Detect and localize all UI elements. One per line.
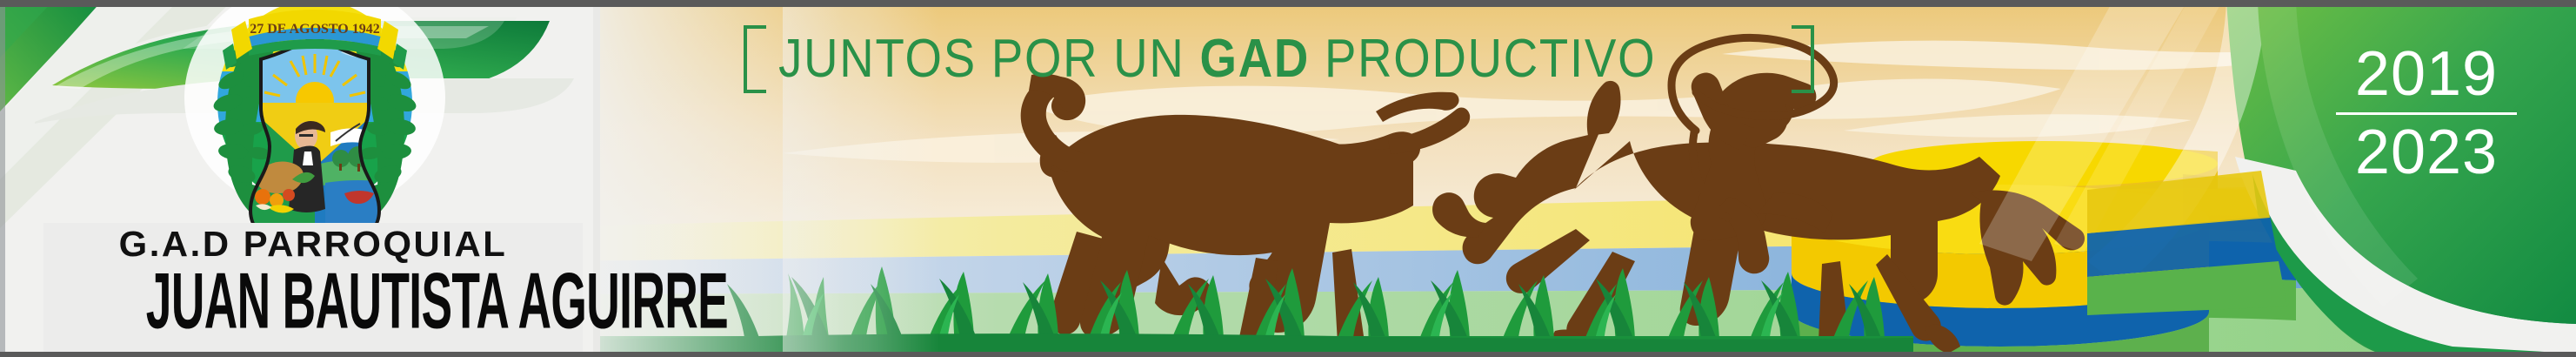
slogan-prefix: JUNTOS POR UN [778,29,1199,89]
term-start-year: 2019 [2331,42,2522,107]
stripe-remnant [2087,171,2287,315]
institutional-banner: 27 DE AGOSTO 1942 [0,0,2576,357]
slogan-emphasis: GAD [1199,29,1310,89]
bracket-right-icon [1792,25,1814,93]
bracket-left-icon [744,25,766,93]
slogan-suffix: PRODUCTIVO [1310,29,1656,89]
coat-of-arms-ribbon-text: 27 DE AGOSTO 1942 [250,22,380,37]
term-divider [2336,112,2517,115]
slogan: JUNTOS POR UN GAD PRODUCTIVO [744,16,1814,103]
parish-name: JUAN BAUTISTA AGUIRRE [146,261,480,340]
slogan-text: JUNTOS POR UN GAD PRODUCTIVO [766,32,1668,86]
term-years: 2019 2023 [2331,42,2522,185]
institution-identity: G.A.D PARROQUIAL JUAN BAUTISTA AGUIRRE [43,223,583,354]
term-end-year: 2023 [2331,120,2522,185]
